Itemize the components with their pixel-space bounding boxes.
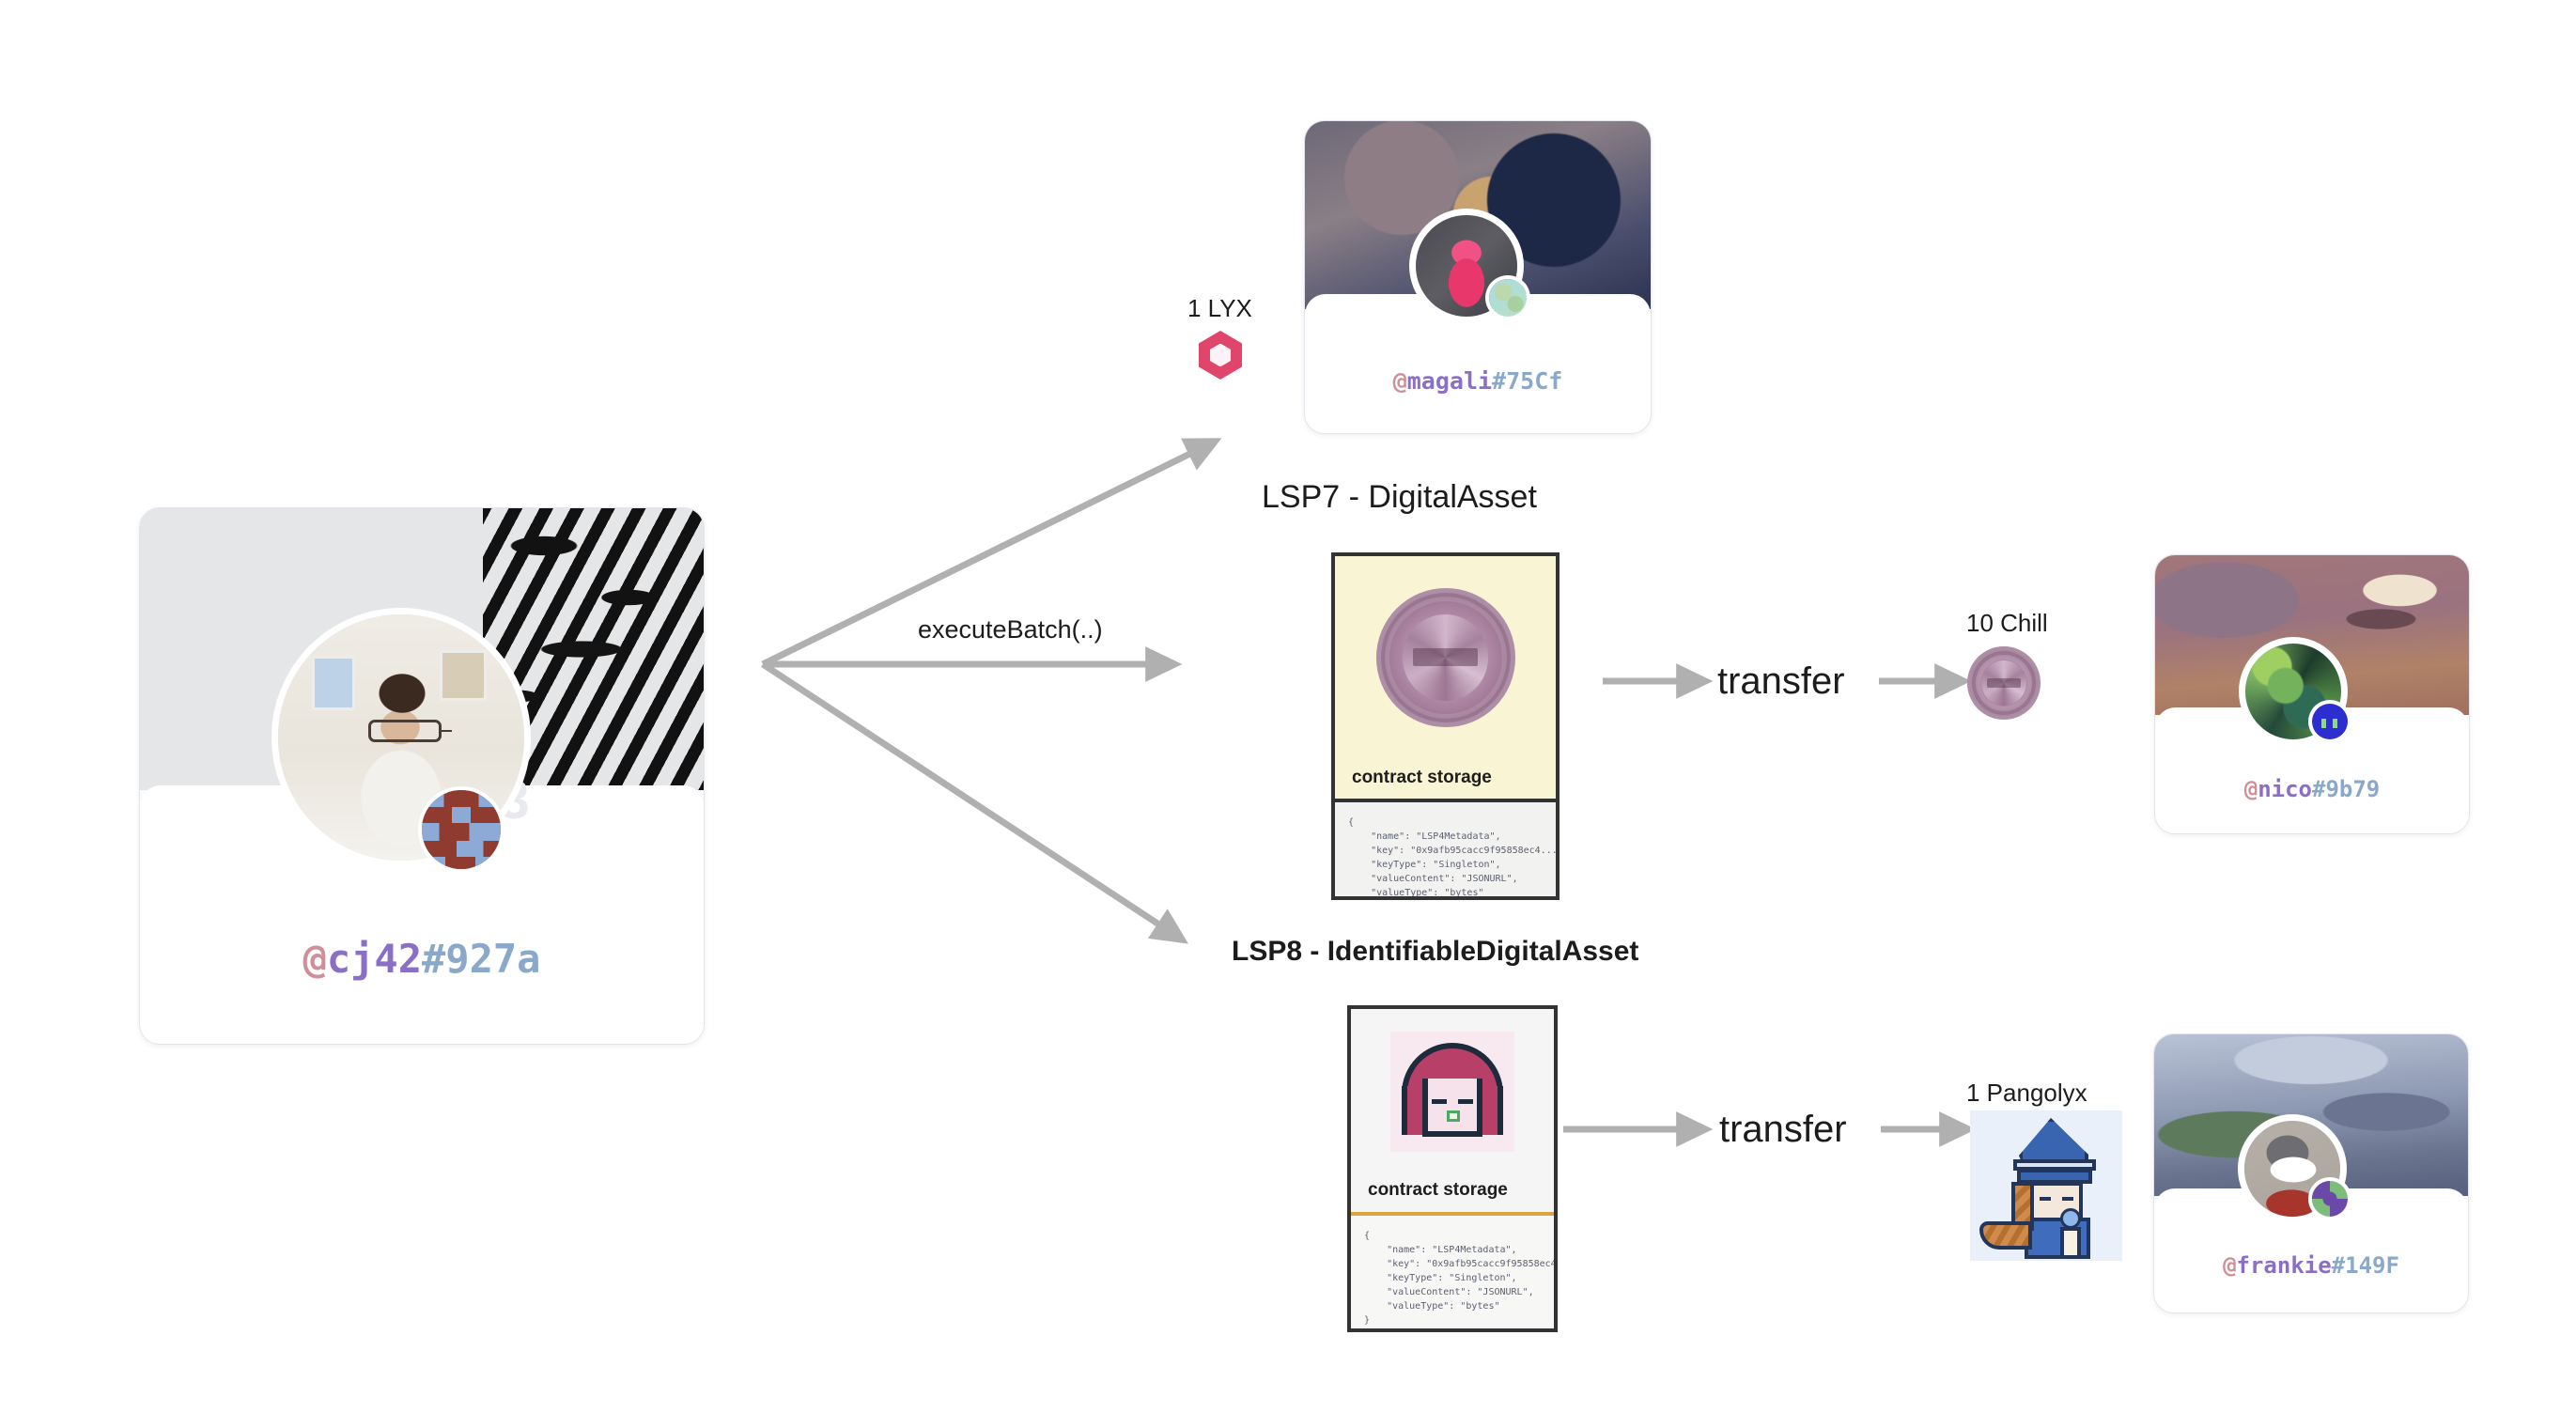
wizard-eye-left: [2040, 1197, 2051, 1201]
handle-hash: #149F: [2332, 1252, 2399, 1279]
lsp8-contract-box[interactable]: contract storage { "name": "LSP4Metadata…: [1347, 1005, 1558, 1332]
handle-name: nico: [2258, 776, 2312, 802]
handle-name: cj42: [327, 936, 422, 982]
lsp7-section-title: LSP7 - DigitalAsset: [1262, 479, 1537, 516]
pangolyx-face: [1422, 1079, 1482, 1137]
lsp8-contract-storage-label: contract storage: [1351, 1180, 1554, 1201]
wizard-scroll: [2060, 1227, 2081, 1259]
pangolin-tail: [1979, 1221, 2032, 1250]
nico-profile-card[interactable]: @nico#9b79: [2154, 554, 2470, 834]
badge-pixel-row-2: [422, 807, 501, 823]
magali-profile-card[interactable]: @magali#75Cf: [1304, 120, 1652, 434]
frankie-profile-card[interactable]: @frankie#149F: [2153, 1033, 2469, 1313]
execute-batch-label: executeBatch(..): [918, 615, 1103, 644]
badge-eye-left: [2321, 719, 2326, 728]
lsp7-contract-storage-label: contract storage: [1335, 768, 1556, 788]
badge-pixel-row-3: [422, 823, 501, 840]
pangolyx-mouth: [1447, 1110, 1460, 1122]
frankie-handle: @frankie#149F: [2154, 1252, 2468, 1279]
lyx-amount-label: 1 LYX: [1187, 294, 1252, 323]
handle-hash: #75Cf: [1492, 367, 1562, 395]
pangolyx-eye-left: [1432, 1099, 1447, 1104]
sender-profile-card[interactable]: 6ee 7B3 @cj42#927a: [139, 507, 705, 1045]
chill-amount-label: 10 Chill: [1966, 609, 2048, 638]
handle-at-symbol: @: [2244, 776, 2258, 802]
handle-at-symbol: @: [1393, 367, 1407, 395]
green-purple-badge-icon[interactable]: [2312, 1181, 2348, 1217]
avatar-wall-frame-right: [440, 650, 487, 701]
avatar-wall-frame-left: [312, 656, 355, 710]
lsp7-contract-box[interactable]: contract storage { "name": "LSP4Metadata…: [1331, 552, 1560, 900]
nico-handle: @nico#9b79: [2155, 776, 2469, 802]
pangolyx-wizard-nft-icon: [1970, 1110, 2122, 1261]
cj42-pixel-badge[interactable]: [422, 790, 501, 869]
wizard-hat: [2019, 1118, 2088, 1165]
pangolyx-pixel-face-art: [1390, 1032, 1514, 1152]
lsp8-storage-json: { "name": "LSP4Metadata", "key": "0x9afb…: [1351, 1216, 1554, 1328]
lsp8-section-title: LSP8 - IdentifiableDigitalAsset: [1232, 936, 1638, 968]
lsp7-storage-json: { "name": "LSP4Metadata", "key": "0x9afb…: [1335, 802, 1556, 896]
wizard-staff-orb: [2060, 1208, 2081, 1229]
cj42-handle: @cj42#927a: [140, 936, 704, 982]
chill-token-coin-art: [1376, 588, 1515, 727]
lsp8-transfer-label: transfer: [1719, 1109, 1847, 1151]
pangolyx-eye-right: [1458, 1099, 1473, 1104]
globe-badge-icon[interactable]: [1489, 279, 1527, 317]
lsp7-transfer-label: transfer: [1717, 660, 1845, 703]
pangolyx-hair-left: [1402, 1086, 1422, 1135]
magali-handle: @magali#75Cf: [1305, 367, 1651, 395]
handle-hash: #9b79: [2312, 776, 2380, 802]
pangolyx-hair-right: [1482, 1086, 1503, 1135]
pangolyx-amount-label: 1 Pangolyx: [1966, 1079, 2087, 1108]
badge-pixel-row-4: [422, 841, 501, 857]
handle-at-symbol: @: [2223, 1252, 2236, 1279]
handle-at-symbol: @: [303, 936, 327, 982]
wizard-eye-right: [2062, 1197, 2073, 1201]
badge-pixel-row-5: [422, 857, 501, 869]
arrow-to-lsp8-contract: [763, 664, 1182, 939]
badge-eye-right: [2333, 719, 2337, 728]
handle-hash: #927a: [422, 936, 540, 982]
lyx-hexagon-icon: [1199, 331, 1242, 380]
chill-coin-icon: [1967, 646, 2041, 720]
blue-badge-icon[interactable]: [2312, 704, 2348, 739]
avatar-glasses-graphic: [368, 720, 442, 742]
handle-name: magali: [1407, 367, 1492, 395]
badge-pixel-row-1: [422, 790, 501, 807]
handle-name: frankie: [2237, 1252, 2332, 1279]
